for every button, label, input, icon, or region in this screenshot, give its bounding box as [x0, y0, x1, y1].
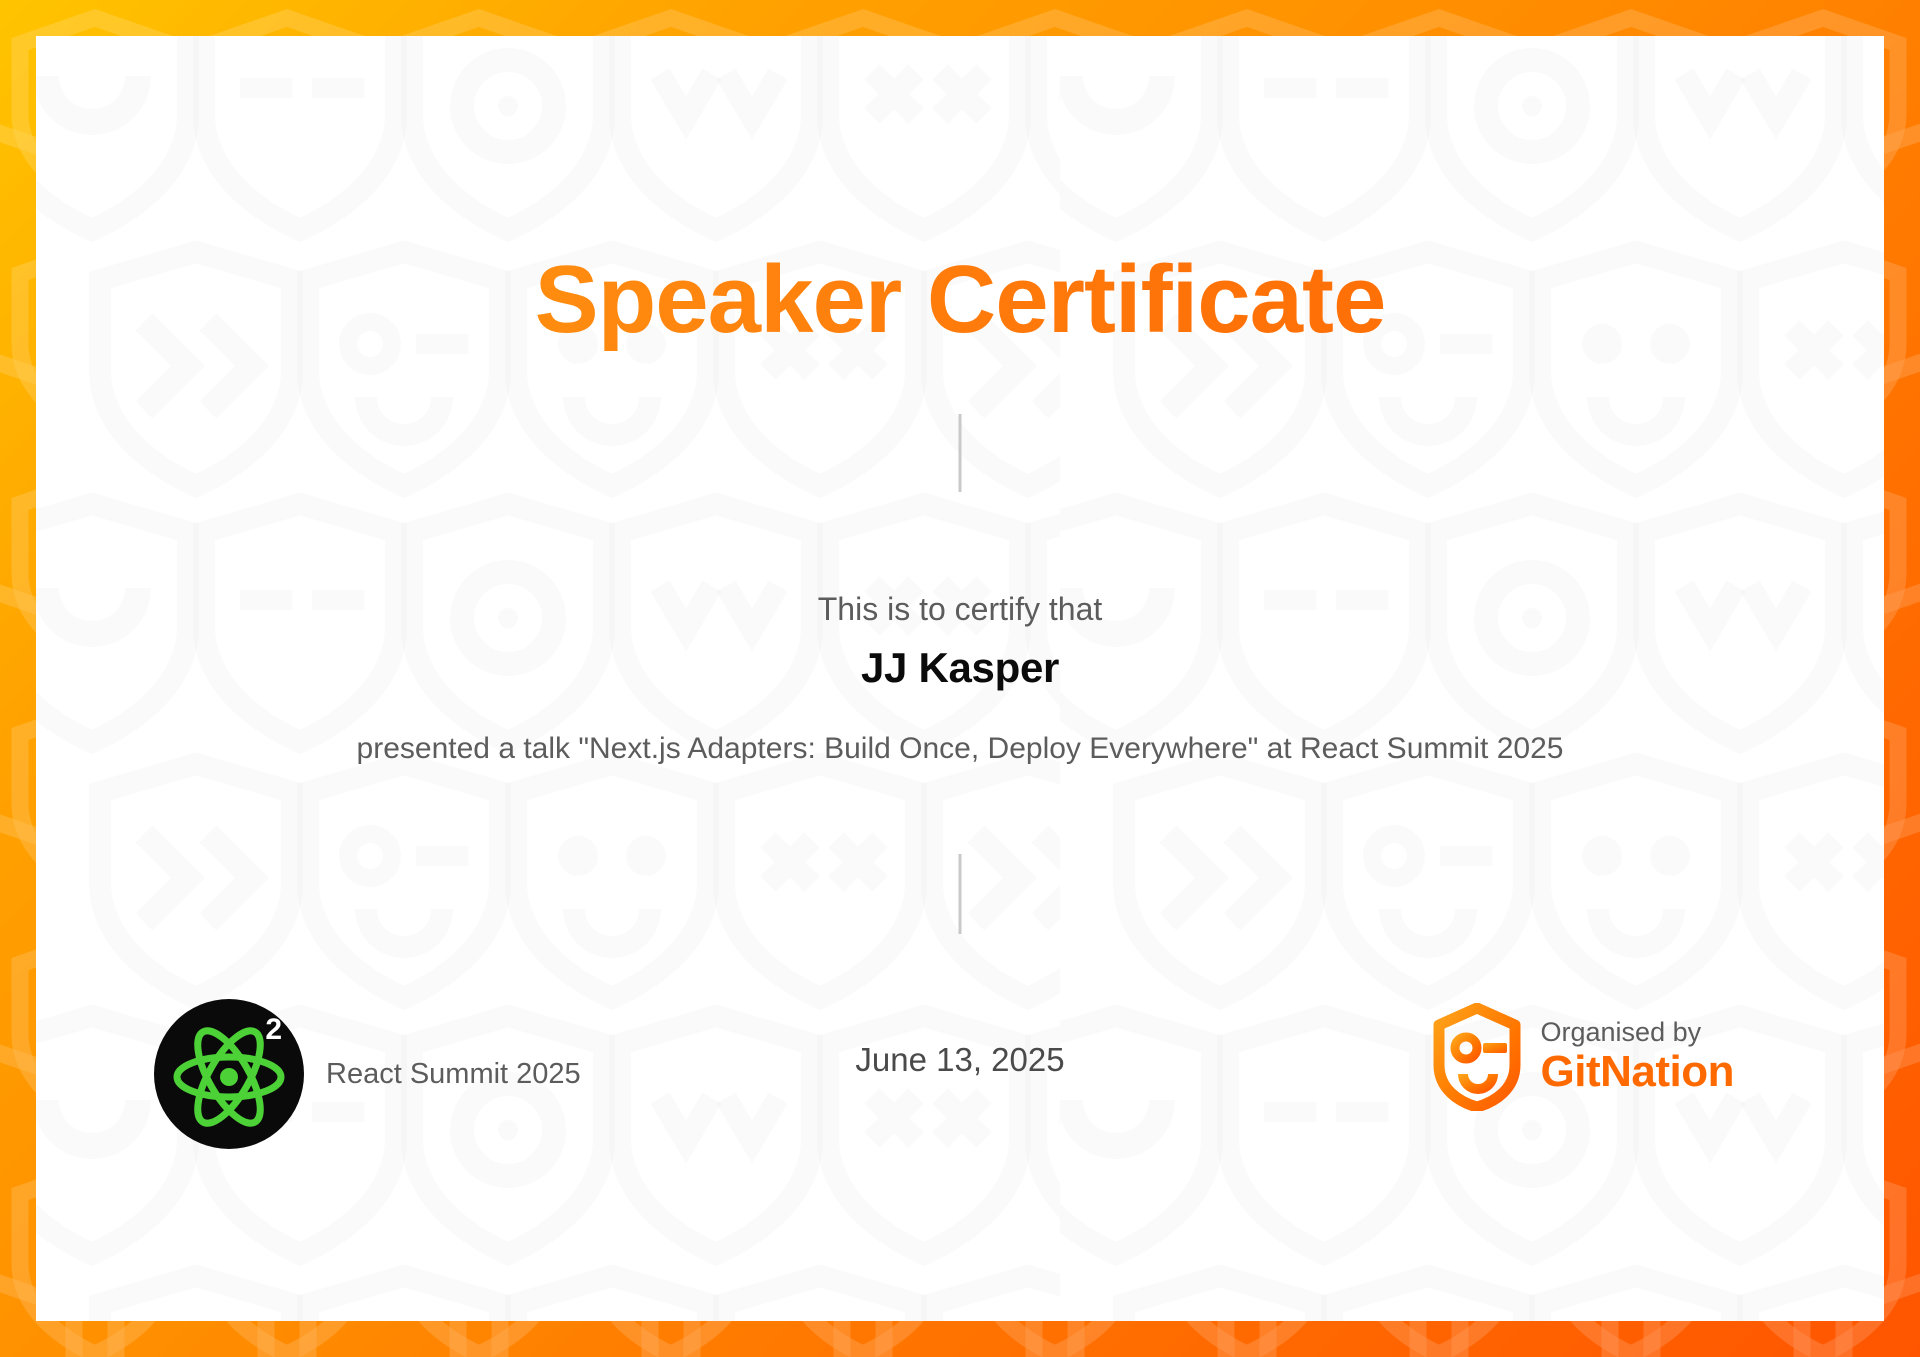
certificate-footer: 2 React Summit 2025 June 13, 2025: [36, 991, 1884, 1321]
gitnation-shield-icon: [1433, 1003, 1521, 1111]
page-title: Speaker Certificate: [36, 250, 1884, 351]
organised-by-label: Organised by: [1541, 1017, 1734, 1047]
vertical-divider-top: [959, 414, 962, 492]
organiser-text: Organised by GitNation: [1541, 1017, 1734, 1097]
gitnation-wordmark: GitNation: [1541, 1047, 1734, 1096]
recipient-name: JJ Kasper: [36, 644, 1884, 692]
certificate-container: Speaker Certificate This is to certify t…: [0, 0, 1920, 1357]
talk-description: presented a talk "Next.js Adapters: Buil…: [276, 729, 1644, 770]
certify-line: This is to certify that: [36, 591, 1884, 628]
vertical-divider-bottom: [959, 854, 962, 934]
organiser-lockup: Organised by GitNation: [1433, 1003, 1734, 1111]
certificate-card: Speaker Certificate This is to certify t…: [36, 36, 1884, 1321]
